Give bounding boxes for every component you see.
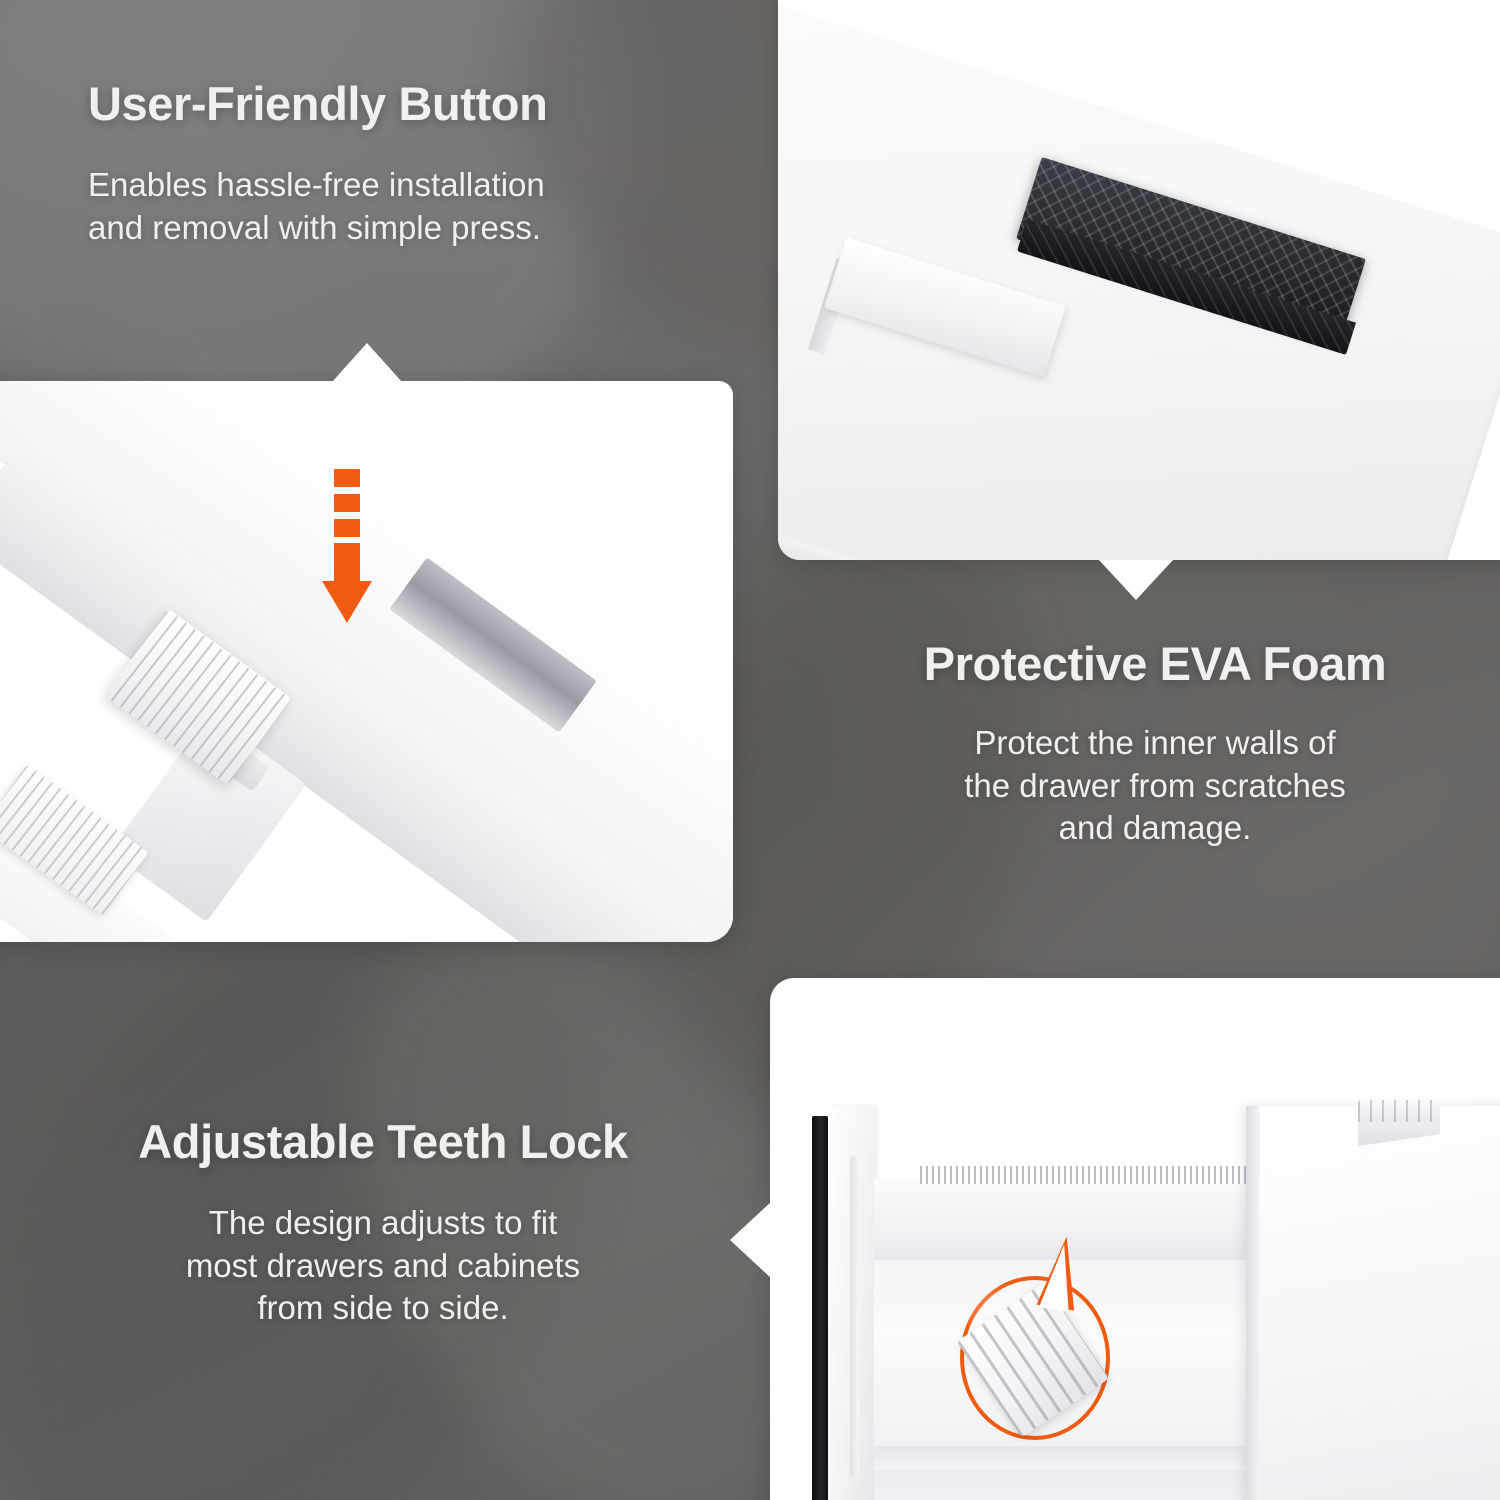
orange-magnifier-callout-icon (960, 1236, 1112, 1440)
press-button-photo-panel (0, 381, 733, 942)
feature-description-line: Protect the inner walls of (848, 722, 1462, 765)
feature-headline: User-Friendly Button (88, 78, 688, 130)
eva-foam-strip (812, 1116, 828, 1500)
feature-headline: Protective EVA Foam (848, 638, 1462, 690)
sliding-panel-slab (1246, 1106, 1500, 1500)
divider-endcap-groove (850, 1156, 859, 1478)
feature-text-adjustable-teeth-lock: Adjustable Teeth Lock The design adjusts… (74, 1116, 692, 1330)
eva-foam-photo-panel (778, 0, 1500, 560)
arrow-dash (334, 494, 360, 512)
adjustable-teeth-row (920, 1166, 1250, 1184)
top-clip-tab-ribbed (1358, 1100, 1440, 1122)
feature-text-user-friendly-button: User-Friendly Button Enables hassle-free… (88, 78, 688, 249)
orange-dashed-down-arrow-icon (322, 469, 374, 619)
feature-description: Enables hassle-free installation and rem… (88, 164, 688, 250)
feature-text-protective-eva-foam: Protective EVA Foam Protect the inner wa… (848, 638, 1462, 850)
arrow-dash (334, 519, 360, 537)
sliding-panel-edge (1246, 1106, 1260, 1500)
feature-description-line: from side to side. (74, 1287, 692, 1330)
press-button-closeup-photo (0, 381, 733, 942)
eva-foam-end-photo (778, 0, 1500, 560)
feature-description-line: and removal with simple press. (88, 207, 688, 250)
feature-description-line: The design adjusts to fit (74, 1202, 692, 1245)
feature-headline: Adjustable Teeth Lock (74, 1116, 692, 1168)
divider-rail-band (874, 1446, 1264, 1470)
teeth-lock-photo-panel (770, 978, 1500, 1500)
feature-description-line: the drawer from scratches (848, 765, 1462, 808)
arrow-head (322, 581, 372, 623)
panel-pointer-left (730, 1201, 772, 1279)
feature-description-line: most drawers and cabinets (74, 1245, 692, 1288)
arrow-dash (334, 469, 360, 487)
feature-description: The design adjusts to fit most drawers a… (74, 1202, 692, 1331)
divider-body-lower (874, 1470, 1264, 1500)
feature-description: Protect the inner walls of the drawer fr… (848, 722, 1462, 851)
panel-pointer-up (332, 343, 402, 382)
teeth-lock-side-photo (770, 978, 1500, 1500)
panel-pointer-down (1099, 560, 1173, 600)
feature-description-line: and damage. (848, 807, 1462, 850)
feature-description-line: Enables hassle-free installation (88, 164, 688, 207)
